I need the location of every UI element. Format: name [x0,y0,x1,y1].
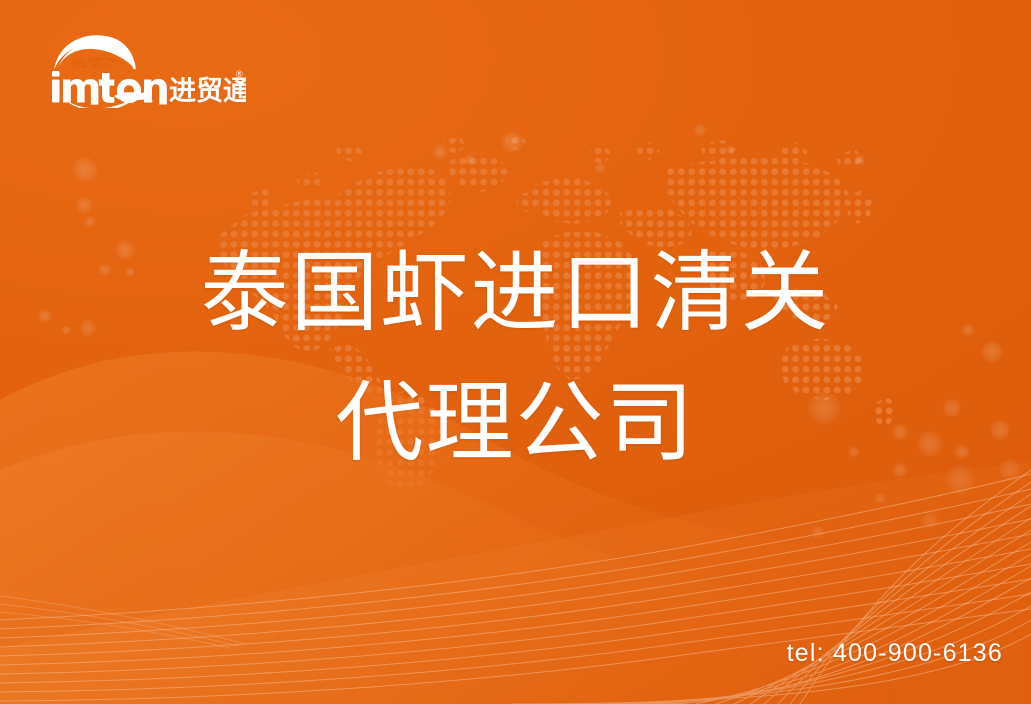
globe-icon [54,35,136,70]
page-title: 泰国虾进口清关 代理公司 [0,228,1031,488]
registered-mark-icon: ® [236,69,243,79]
title-line-2: 代理公司 [0,358,1031,488]
logo-wordmark-chinese: 进贸通 [169,76,246,107]
contact-phone[interactable]: tel: 400-900-6136 [787,639,1003,668]
title-line-1: 泰国虾进口清关 [0,228,1031,358]
svg-text:进贸通: 进贸通 [169,76,246,107]
brand-logo[interactable]: 进贸通 ® [36,30,246,108]
promo-banner: 进贸通 ® 泰国虾进口清关 代理公司 tel: 400-900-6136 [0,0,1031,704]
